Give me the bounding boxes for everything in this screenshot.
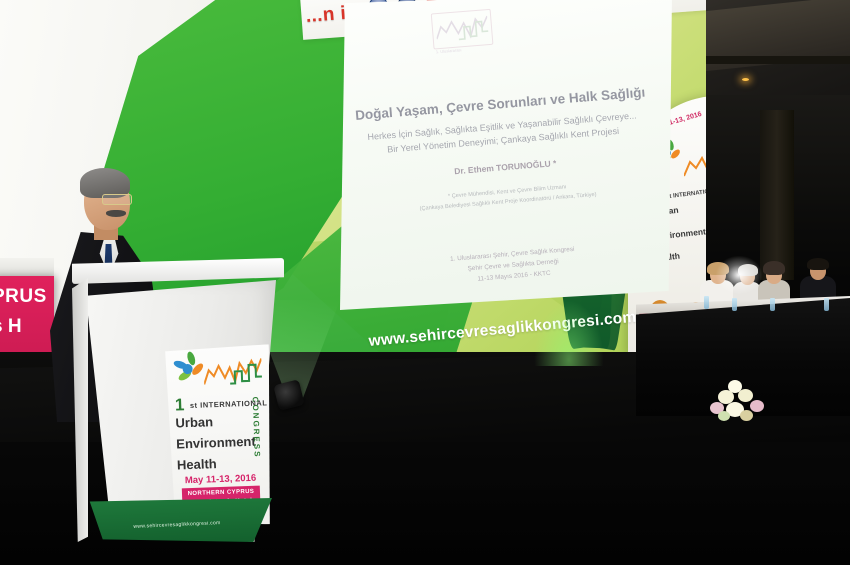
skyline-icon: [203, 356, 262, 386]
sign-line-2: Environment: [176, 434, 256, 452]
speaker-mustache: [106, 210, 126, 217]
panel-ordinal: st INTERNATIONAL: [666, 188, 706, 201]
downlight-icon: [742, 78, 749, 81]
camera-flash-glare: [716, 256, 762, 294]
sign-line-3: Health: [177, 456, 217, 472]
slide-logo: 1. Uluslararası: [424, 2, 498, 61]
water-bottle: [824, 298, 829, 311]
water-bottle: [770, 298, 775, 311]
flower-arrangement: [706, 378, 776, 426]
water-bottle: [704, 296, 709, 309]
pinwheel-logo-icon: [173, 355, 204, 386]
slide-footer: 1. Uluslararası Şehir, Çevre Sağlık Kong…: [362, 238, 664, 295]
podium-top-surface: [72, 258, 284, 284]
wall-column: [760, 110, 794, 280]
sign-numeral: 1: [175, 395, 185, 415]
slide-content: 1. Uluslararası Doğal Yaşam, Çevre Sorun…: [328, 0, 684, 323]
sign-line-1: Urban: [175, 414, 213, 430]
panelist-3-hair: [763, 261, 785, 275]
conference-photo-scene: May 11-13, 2016 1 st INTERNATIONAL Urban…: [0, 0, 850, 565]
lectern-podium: 1 st INTERNATIONAL Urban Environment Hea…: [72, 258, 284, 546]
sign-date: May 11-13, 2016: [181, 473, 259, 487]
eyeglasses-icon: [102, 194, 132, 205]
slide-logo-caption: 1. Uluslararası: [436, 47, 462, 54]
skyline-icon: [684, 148, 706, 178]
water-bottle: [732, 298, 737, 311]
slide-footnotes: * Çevre Mühendisi, Kent ve Çevre Bilim U…: [357, 176, 658, 219]
projection-screen: 1. Uluslararası Doğal Yaşam, Çevre Sorun…: [340, 0, 672, 310]
podium-side-panel: [72, 278, 88, 542]
panelist-4-hair: [807, 258, 829, 270]
green-stage-glow: [534, 300, 604, 366]
